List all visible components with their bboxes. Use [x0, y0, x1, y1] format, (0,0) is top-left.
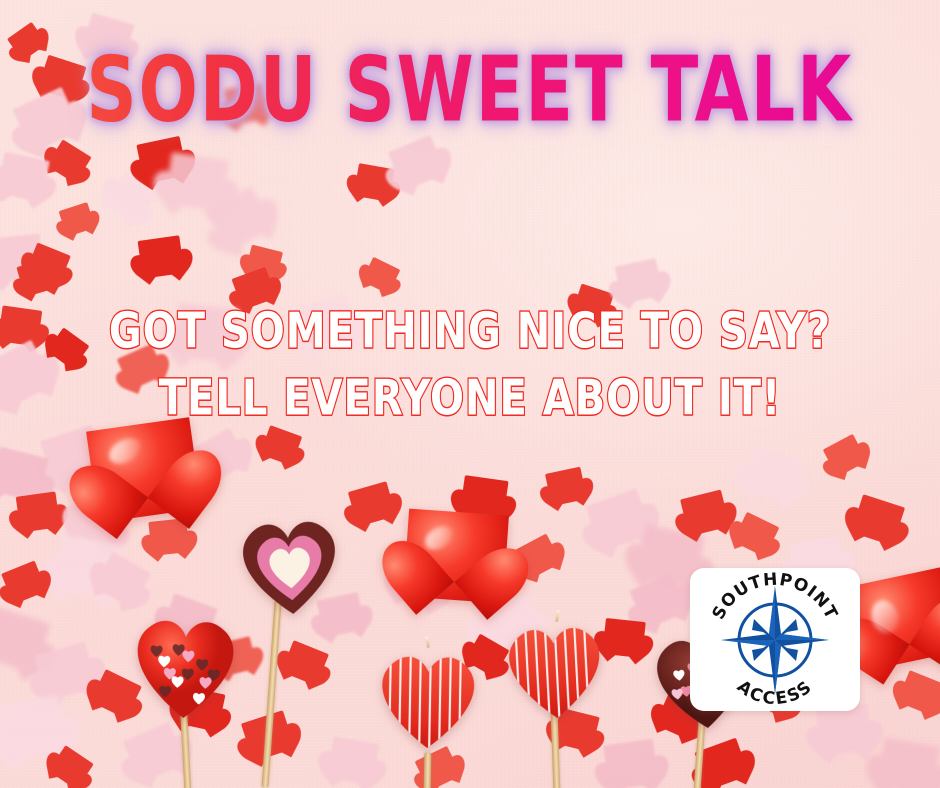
- confetti-heart: [603, 739, 659, 788]
- confetti-heart: [223, 83, 269, 125]
- confetti-heart: [545, 467, 587, 507]
- glossy-heart-candy: [86, 417, 202, 523]
- confetti-heart: [0, 305, 42, 346]
- confetti-heart: [876, 738, 940, 788]
- confetti-heart: [615, 258, 664, 304]
- confetti-heart: [680, 489, 730, 536]
- confetti-heart: [138, 235, 185, 278]
- valentine-poster: SODU SWEET TALK GOT SOMETHING NICE TO SA…: [0, 0, 940, 788]
- lollipop-stick: [424, 752, 432, 788]
- confetti-heart: [173, 303, 238, 363]
- glossy-heart-candy: [403, 509, 509, 604]
- chocolate-ring-heart-lollipop: [231, 510, 350, 622]
- red-sprinkle-heart-lollipop: [124, 610, 246, 724]
- logo-artwork: SOUTHPOINT ACCESS: [690, 568, 860, 711]
- southpoint-access-logo[interactable]: SOUTHPOINT ACCESS: [690, 568, 860, 711]
- striped-heart-candle: [371, 647, 485, 753]
- confetti-heart: [0, 152, 50, 203]
- striped-heart-candle: [497, 617, 612, 725]
- confetti-heart: [16, 491, 61, 532]
- confetti-heart: [816, 703, 873, 755]
